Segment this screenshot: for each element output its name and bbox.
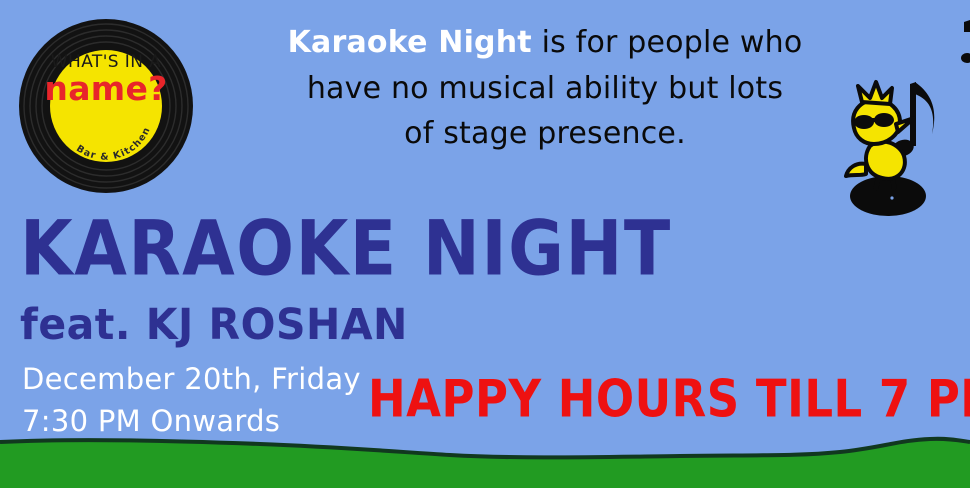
woodstock-bird-icon xyxy=(836,72,966,218)
tagline-highlight: Karaoke Night xyxy=(288,25,532,60)
clipped-edge-glyph xyxy=(956,18,970,74)
tagline-line-2: have no musical ability but lots xyxy=(255,66,835,112)
event-datetime: December 20th, Friday 7:30 PM Onwards xyxy=(22,358,361,442)
title-block: KARAOKE NIGHT feat. KJ ROSHAN xyxy=(20,212,672,343)
event-title: KARAOKE NIGHT xyxy=(20,212,672,288)
tagline-line-3: of stage presence. xyxy=(255,111,835,157)
logo-line2: name? xyxy=(44,69,167,108)
tagline: Karaoke Night is for people who have no … xyxy=(255,20,835,157)
mascot-base xyxy=(850,176,926,216)
happy-hours-banner: HAPPY HOURS TILL 7 PM xyxy=(368,373,970,425)
tagline-line-1: Karaoke Night is for people who xyxy=(255,20,835,66)
karaoke-night-flyer: WHAT'S IN A name? Bar & Kitchen Karaoke … xyxy=(0,0,970,488)
event-subtitle: feat. KJ ROSHAN xyxy=(20,280,672,346)
record-logo: WHAT'S IN A name? Bar & Kitchen xyxy=(18,18,194,194)
tagline-line-1-rest: is for people who xyxy=(532,25,803,60)
event-date: December 20th, Friday xyxy=(22,358,361,400)
event-time: 7:30 PM Onwards xyxy=(22,400,361,442)
